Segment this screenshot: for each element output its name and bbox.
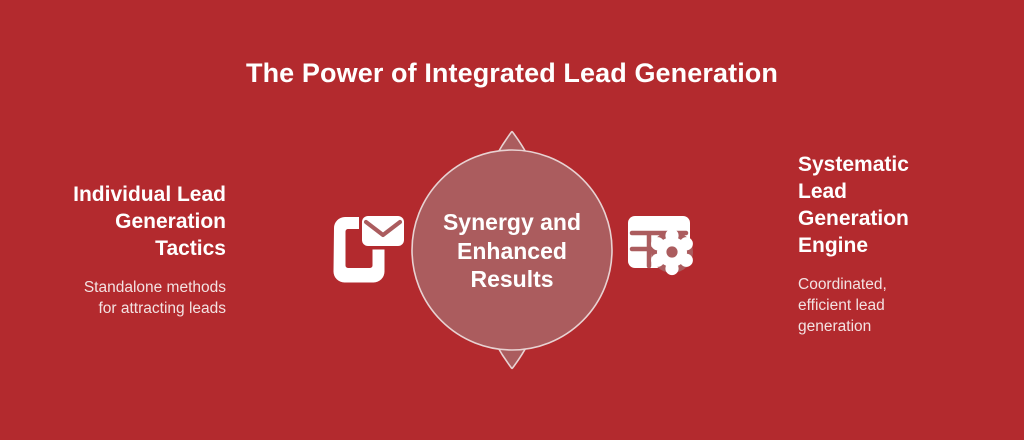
right-heading-line-4: Engine: [798, 233, 1004, 260]
left-subtext: Standalone methods for attracting leads: [14, 277, 226, 320]
left-label-block: Individual Lead Generation Tactics Stand…: [14, 182, 226, 319]
left-heading: Individual Lead Generation Tactics: [14, 182, 226, 263]
center-overlap-label: Synergy and Enhanced Results: [412, 208, 612, 294]
right-label-block: Systematic Lead Generation Engine Coordi…: [798, 152, 1004, 338]
left-subtext-line-2: for attracting leads: [14, 298, 226, 319]
infographic-canvas: The Power of Integrated Lead Generation: [0, 0, 1024, 440]
right-subtext-line-3: generation: [798, 316, 1004, 337]
right-heading-line-3: Generation: [798, 206, 1004, 233]
right-subtext: Coordinated, efficient lead generation: [798, 274, 1004, 338]
page-title: The Power of Integrated Lead Generation: [0, 58, 1024, 89]
table-gear-icon: [628, 216, 693, 275]
right-heading-line-2: Lead: [798, 179, 1004, 206]
center-label-line-3: Results: [412, 265, 612, 294]
left-heading-line-3: Tactics: [14, 236, 226, 263]
left-heading-line-1: Individual Lead: [14, 182, 226, 209]
center-label-line-2: Enhanced: [412, 237, 612, 266]
left-subtext-line-1: Standalone methods: [14, 277, 226, 298]
center-label-line-1: Synergy and: [412, 208, 612, 237]
right-subtext-line-1: Coordinated,: [798, 274, 1004, 295]
left-heading-line-2: Generation: [14, 209, 226, 236]
right-heading-line-1: Systematic: [798, 152, 1004, 179]
right-subtext-line-2: efficient lead: [798, 295, 1004, 316]
right-heading: Systematic Lead Generation Engine: [798, 152, 1004, 260]
phone-envelope-icon: [334, 216, 405, 283]
